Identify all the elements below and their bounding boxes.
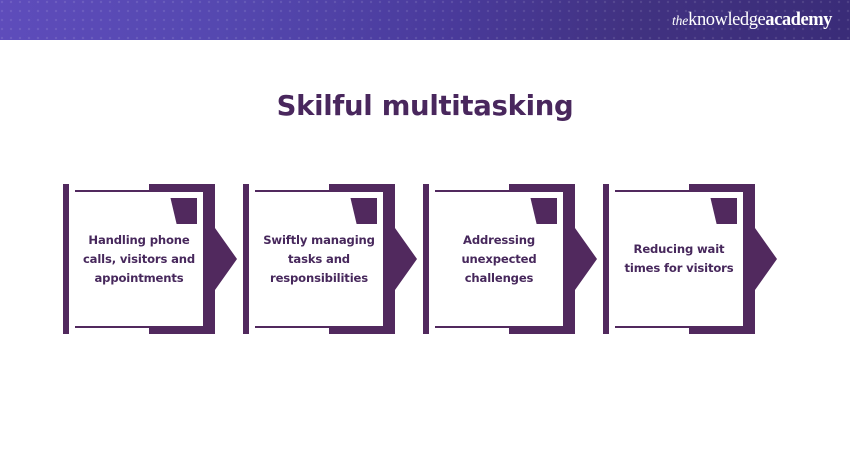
corner-tab-icon: [343, 198, 377, 224]
frame-notch-top: [249, 184, 329, 190]
step-arrow-icon: [575, 228, 597, 290]
step-card-3[interactable]: Addressing unexpected challenges: [423, 184, 575, 334]
frame-notch-bottom: [609, 328, 689, 334]
step-card-2[interactable]: Swiftly managing tasks and responsibilit…: [243, 184, 395, 334]
step-inner-card: Handling phone calls, visitors and appoi…: [75, 192, 203, 326]
step-arrow-icon: [215, 228, 237, 290]
step-card-4[interactable]: Reducing wait times for visitors: [603, 184, 755, 334]
brand-logo-word-one: knowledge: [688, 10, 765, 30]
frame-notch-top: [429, 184, 509, 190]
frame-notch-bottom: [69, 328, 149, 334]
page-title: Skilful multitasking: [0, 90, 850, 122]
step-inner-card: Swiftly managing tasks and responsibilit…: [255, 192, 383, 326]
header-band: theknowledgeacademy: [0, 0, 850, 40]
frame-notch-bottom: [429, 328, 509, 334]
step-arrow-icon: [755, 228, 777, 290]
step-label: Swiftly managing tasks and responsibilit…: [259, 231, 379, 287]
frame-notch-top: [69, 184, 149, 190]
brand-logo: theknowledgeacademy: [672, 11, 832, 30]
brand-logo-prefix: the: [672, 13, 688, 28]
frame-notch-top: [609, 184, 689, 190]
step-arrow-icon: [395, 228, 417, 290]
step-label: Addressing unexpected challenges: [439, 231, 559, 287]
step-label: Reducing wait times for visitors: [619, 240, 739, 278]
corner-tab-icon: [703, 198, 737, 224]
frame-notch-bottom: [249, 328, 329, 334]
step-card-1[interactable]: Handling phone calls, visitors and appoi…: [63, 184, 215, 334]
corner-tab-icon: [163, 198, 197, 224]
step-label: Handling phone calls, visitors and appoi…: [79, 231, 199, 287]
step-inner-card: Addressing unexpected challenges: [435, 192, 563, 326]
corner-tab-icon: [523, 198, 557, 224]
step-inner-card: Reducing wait times for visitors: [615, 192, 743, 326]
brand-logo-word-two: academy: [765, 10, 832, 30]
steps-row: Handling phone calls, visitors and appoi…: [63, 184, 787, 334]
